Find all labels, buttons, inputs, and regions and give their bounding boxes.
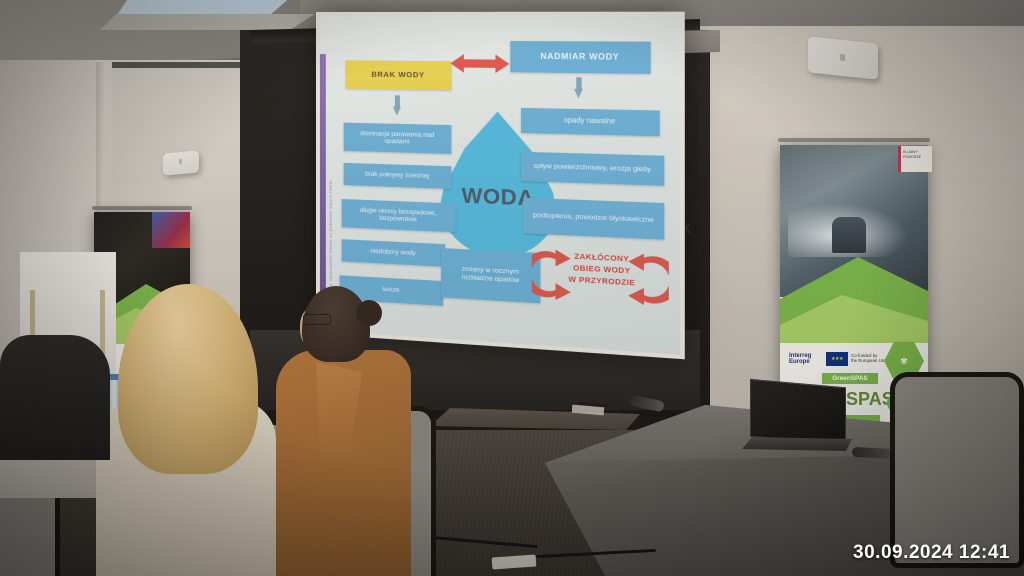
eu-stars: ★★★ [831, 356, 843, 362]
banner-strip-label: GreenSPAS [822, 373, 878, 384]
banner-rail-left [92, 206, 192, 210]
laptop-keyboard [742, 437, 852, 451]
slide-box-left-3: niedobory wody [342, 239, 445, 267]
cycle-label: ZAKŁÓCONY OBIEG WODY W PRZYRODZIE [562, 250, 642, 289]
slide-box-left-0: dominacja parowania nad opadami [344, 123, 452, 154]
interreg-europe-logo: Interreg Europe [789, 353, 811, 366]
banner-photo-figures [832, 217, 866, 253]
slide-box-left-2: długie okresy bezopadowe, bezpowrotnie [342, 199, 456, 232]
water-cycle-group: ZAKŁÓCONY OBIEG WODY W PRZYRODZIE [532, 244, 669, 311]
arrow-down-icon [393, 95, 402, 118]
speaker-vent [840, 54, 845, 62]
slide-side-credit: Źródło: opracowanie własne na podstawie … [328, 136, 338, 297]
slide-accent-bar [320, 54, 326, 305]
eu-funding-caption: Co-funded by the European Union [851, 354, 890, 364]
skylight-frame [100, 14, 315, 30]
slide-box-right-1: spływ powierzchniowy, erozja gleby [521, 152, 664, 186]
attendee-far-left [0, 335, 110, 460]
corner-badge-line2: POMORZE [903, 155, 930, 160]
conference-room-photo: IO BK Źródło: opracowanie własne na pods… [0, 0, 1024, 576]
slide-box-right-2: podtopienia, powodzie błyskawiczne [523, 198, 664, 240]
banner-left-photo-color [152, 212, 190, 248]
double-arrow-icon [450, 53, 509, 74]
chair-right [890, 372, 1024, 568]
slide-box-left-1: brak pokrywy śnieżnej [344, 163, 452, 189]
slide-box-right-0: opady nawalne [521, 108, 660, 136]
glasses-icon [303, 314, 331, 325]
slide-box-nadmiar-wody: NADMIAR WODY [510, 41, 650, 74]
attendee-center-bun [356, 300, 382, 326]
speaker-vent [179, 159, 182, 164]
arrow-down-icon [574, 77, 584, 100]
laptop-screen [750, 379, 846, 445]
banner-corner-badge: KUJAWY POMORZE [898, 146, 932, 172]
speaker-icon-right [808, 36, 878, 79]
timestamp-overlay: 30.09.2024 12:41 [853, 542, 1010, 564]
slide-box-brak-wody: BRAK WODY [346, 60, 452, 90]
banner-rail-right [778, 138, 930, 142]
speaker-icon-left [163, 150, 199, 175]
slide-box-bottom: zmiany w rocznym rozkładzie opadów [441, 248, 540, 303]
eu-flag-icon: ★★★ [826, 352, 848, 366]
interreg-line2: Europe [789, 359, 811, 365]
